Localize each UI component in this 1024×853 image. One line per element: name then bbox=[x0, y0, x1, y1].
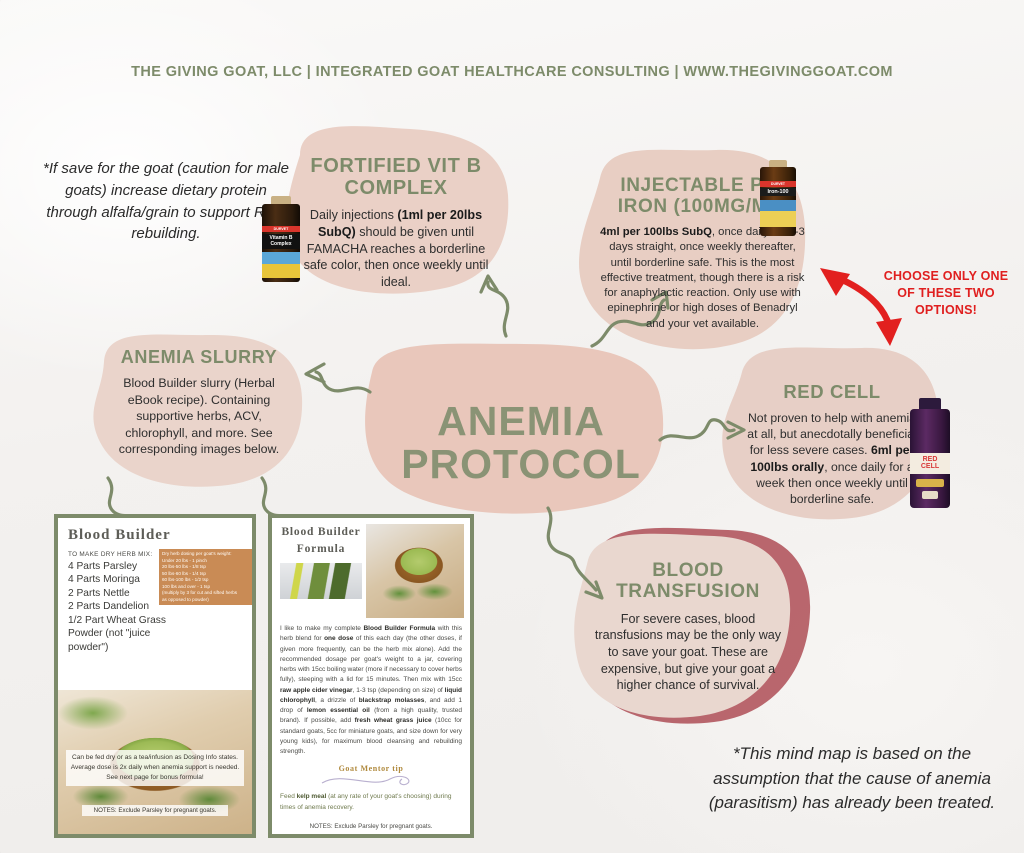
bottle-label-gold bbox=[916, 479, 944, 487]
bottle-label-brand: DURVET bbox=[760, 181, 796, 187]
node-fortified-vit-b: FORTIFIED VIT B COMPLEX Daily injections… bbox=[296, 156, 496, 291]
center-node: ANEMIA PROTOCOL bbox=[396, 400, 646, 486]
node-body-slurry: Blood Builder slurry (Herbal eBook recip… bbox=[104, 375, 294, 458]
card2-tip-label: Goat Mentor tip bbox=[272, 764, 470, 773]
bottle-label-blue bbox=[760, 200, 796, 211]
card1-ingredient: Powder (not "juice bbox=[68, 627, 252, 640]
card1-dose-line: (multiply by 3 for cut and sifted herbs bbox=[162, 590, 250, 597]
bottle-label-name: REDCELL bbox=[910, 453, 950, 474]
card2-photo-syringes bbox=[280, 563, 362, 599]
card1-notes: NOTES: Exclude Parsley for pregnant goat… bbox=[82, 805, 228, 816]
card2-footer: The Giving Goat, LLC Copyright 2024 bbox=[272, 836, 464, 838]
callout-choose-one: CHOOSE ONLY ONE OF THESE TWO OPTIONS! bbox=[880, 268, 1012, 319]
card2-notes: NOTES: Exclude Parsley for pregnant goat… bbox=[272, 823, 470, 830]
node-title-redcell: RED CELL bbox=[742, 382, 922, 402]
bottle-label-stripe-2 bbox=[262, 264, 300, 278]
node-red-cell: RED CELL Not proven to help with anemia … bbox=[742, 382, 922, 507]
card1-ingredient: 1/2 Part Wheat Grass bbox=[68, 614, 252, 627]
note-left: *If save for the goat (caution for male … bbox=[42, 158, 290, 245]
card1-dose-line: as opposed to powder) bbox=[162, 597, 250, 604]
card2-title-line2: Formula bbox=[278, 541, 364, 558]
bottle-vitamin-b-complex: DURVET Vitamin BComplex bbox=[262, 196, 300, 282]
card-blood-builder-formula: Blood Builder Formula I like to make my … bbox=[268, 514, 474, 838]
bottle-label-name: Vitamin BComplex bbox=[262, 234, 300, 249]
card-blood-builder: Blood Builder TO MAKE DRY HERB MIX: 4 Pa… bbox=[54, 514, 256, 838]
card2-body-text: I like to make my complete Blood Builder… bbox=[272, 618, 470, 757]
node-blood-transfusion: BLOOD TRANSFUSION For severe cases, bloo… bbox=[592, 560, 784, 694]
node-body-iron: 4ml per 100lbs SubQ, once daily for 2-3 … bbox=[600, 225, 805, 332]
node-body-vitb: Daily injections (1ml per 20lbs SubQ) sh… bbox=[296, 207, 496, 291]
bottle-red-cell: REDCELL bbox=[910, 398, 950, 508]
bottle-label-stripe bbox=[262, 252, 300, 264]
center-title: ANEMIA PROTOCOL bbox=[396, 400, 646, 486]
node-title-vitb: FORTIFIED VIT B COMPLEX bbox=[296, 156, 496, 199]
card1-dose-box: Dry herb dosing per goat's weight:Under … bbox=[158, 548, 254, 606]
node-body-transfusion: For severe cases, blood transfusions may… bbox=[592, 611, 784, 695]
swirl-decoration bbox=[316, 773, 426, 789]
card1-caption: Can be fed dry or as a tea/infusion as D… bbox=[66, 750, 244, 786]
node-title-slurry: ANEMIA SLURRY bbox=[104, 348, 294, 367]
bottle-iron-100: DURVET Iron-100 bbox=[760, 160, 796, 236]
node-title-transfusion: BLOOD TRANSFUSION bbox=[592, 560, 784, 603]
bottle-label-seal bbox=[922, 491, 938, 499]
card2-photo-herb-bowl bbox=[366, 524, 464, 618]
card2-header-row: Blood Builder Formula bbox=[272, 518, 470, 618]
node-body-redcell: Not proven to help with anemia at all, b… bbox=[742, 410, 922, 507]
node-anemia-slurry: ANEMIA SLURRY Blood Builder slurry (Herb… bbox=[104, 348, 294, 458]
card1-ingredient: powder") bbox=[68, 641, 252, 654]
bottle-label-yellow bbox=[760, 211, 796, 227]
page-header: THE GIVING GOAT, LLC | INTEGRATED GOAT H… bbox=[0, 64, 1024, 80]
note-bottom: *This mind map is based on the assumptio… bbox=[694, 742, 1010, 816]
bottle-label-name: Iron-100 bbox=[760, 188, 796, 196]
card2-kelp-note: Feed kelp meal (at any rate of your goat… bbox=[272, 789, 470, 812]
bottle-label-brand: DURVET bbox=[262, 226, 300, 232]
card2-title-col: Blood Builder Formula bbox=[272, 518, 364, 618]
card1-title: Blood Builder bbox=[68, 527, 252, 544]
card2-title-line1: Blood Builder bbox=[278, 524, 364, 541]
